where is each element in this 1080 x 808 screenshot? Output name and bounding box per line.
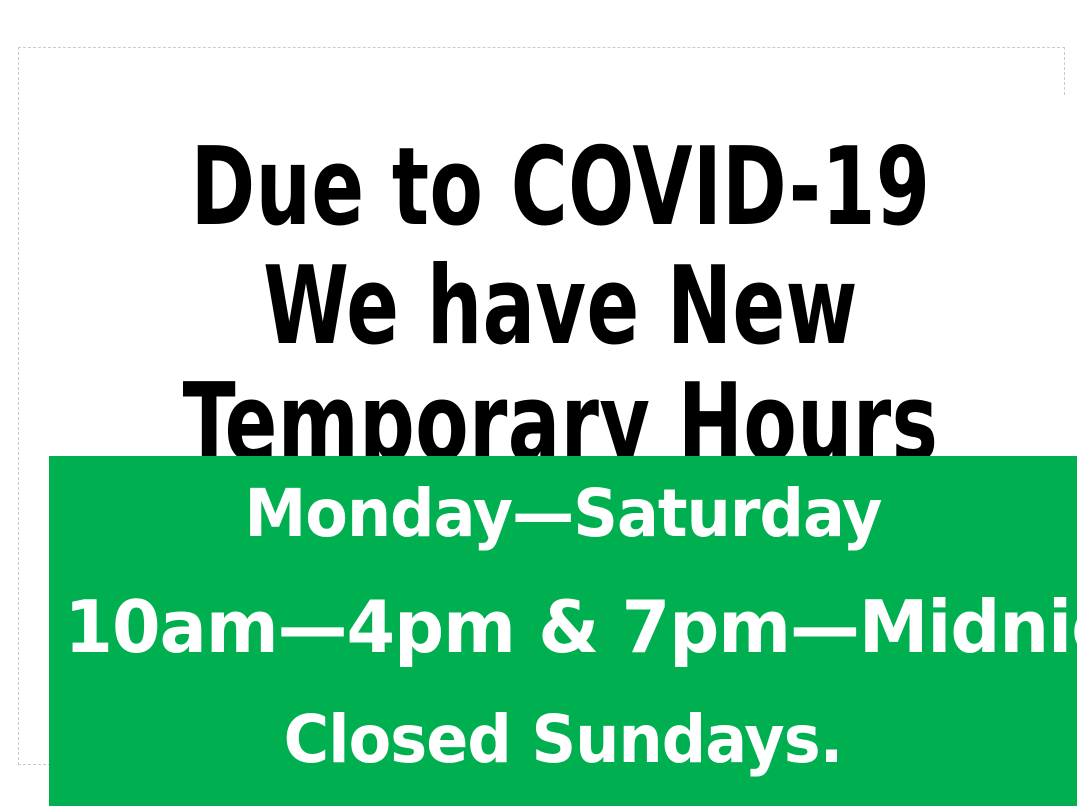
headline-line-2: We have New — [143, 251, 979, 363]
sign-placeholder-frame[interactable]: Due to COVID-19 We have New Temporary Ho… — [18, 47, 1065, 765]
headline-block: Due to COVID-19 We have New Temporary Ho… — [38, 96, 1080, 456]
hours-panel: Monday—Saturday 10am—4pm & 7pm—Midnight … — [49, 456, 1077, 806]
hours-closed-note: Closed Sundays. — [80, 700, 1046, 780]
hours-days-range: Monday—Saturday — [80, 474, 1046, 554]
hours-times-range: 10am—4pm & 7pm—Midnight — [64, 584, 1061, 670]
headline-line-1: Due to COVID-19 — [143, 132, 979, 244]
sign-canvas: Due to COVID-19 We have New Temporary Ho… — [0, 0, 1080, 808]
